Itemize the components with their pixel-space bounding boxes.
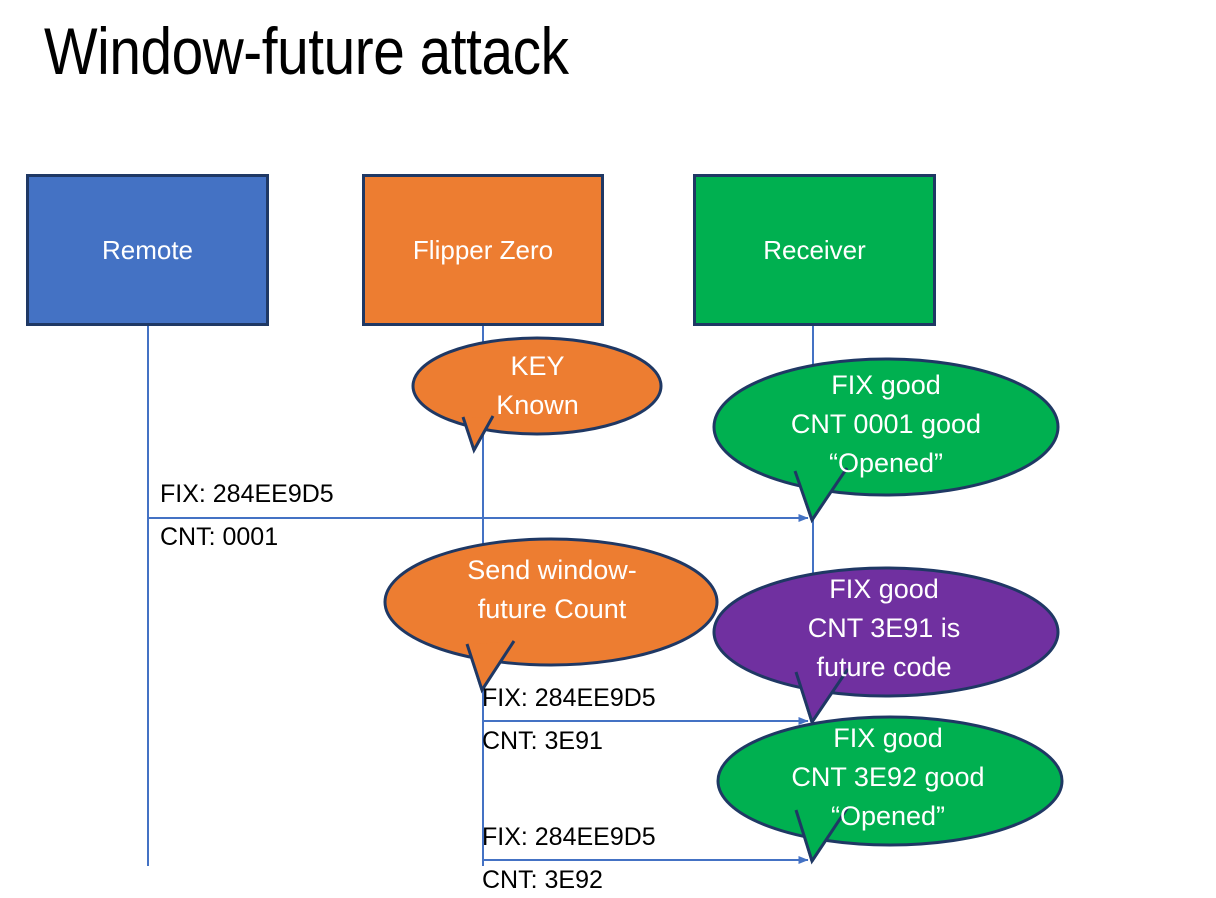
callout-fix-good-3e91-future: [714, 568, 1058, 722]
callout-key-known: [413, 338, 661, 450]
actor-label-receiver: Receiver: [763, 235, 866, 265]
message-1-fix-label: FIX: 284EE9D5: [160, 479, 334, 510]
callout-fix-good-3e92: [718, 717, 1062, 861]
actor-box-flipper[interactable]: Flipper Zero: [362, 174, 604, 326]
message-1-cnt-label: CNT: 0001: [160, 522, 278, 553]
callout-fix-good-0001: [714, 359, 1058, 520]
message-3-fix-label: FIX: 284EE9D5: [482, 822, 656, 853]
message-3-cnt-label: CNT: 3E92: [482, 865, 603, 896]
message-2-cnt-label: CNT: 3E91: [482, 726, 603, 757]
message-2-fix-label: FIX: 284EE9D5: [482, 683, 656, 714]
sequence-diagram: [0, 0, 1216, 898]
slide-canvas: Window-future attack: [0, 0, 1216, 898]
callout-send-window-future: [385, 539, 717, 690]
actor-label-remote: Remote: [102, 235, 193, 265]
actor-box-receiver[interactable]: Receiver: [693, 174, 936, 326]
actor-label-flipper: Flipper Zero: [413, 235, 553, 265]
actor-box-remote[interactable]: Remote: [26, 174, 269, 326]
